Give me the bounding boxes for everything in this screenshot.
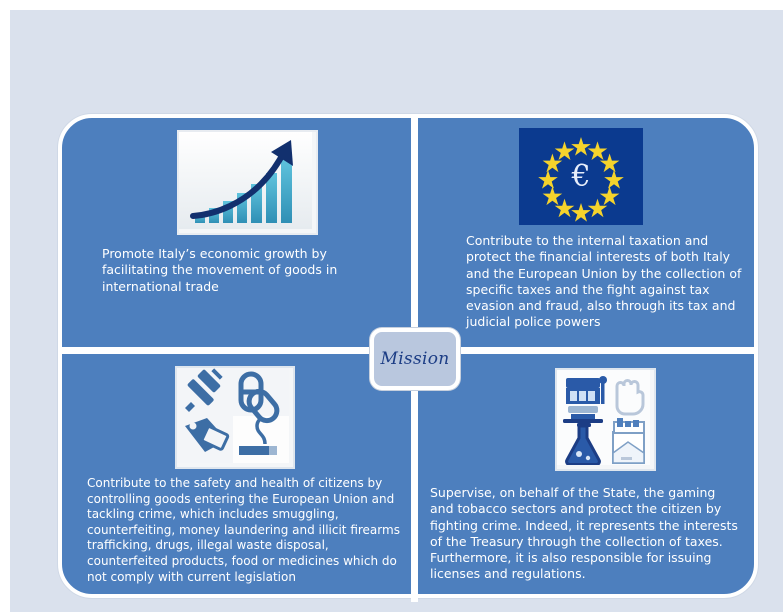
quadrant-bottom-right-text: Supervise, on behalf of the State, the g…: [430, 485, 738, 583]
quadrant-top-left[interactable]: Promote Italy’s economic growth by facil…: [62, 118, 411, 347]
quadrant-bottom-left[interactable]: Contribute to the safety and health of c…: [62, 354, 411, 602]
quadrant-top-right[interactable]: € Contribute to the internal taxation an…: [418, 118, 754, 347]
mission-center-badge[interactable]: Mission: [370, 328, 460, 390]
safety-health-contraband-icon: [175, 366, 295, 469]
page-background: Promote Italy’s economic growth by facil…: [10, 10, 783, 612]
economic-growth-chart-icon: [177, 130, 318, 235]
cigarette-pack-icon: [613, 418, 644, 463]
quadrant-bottom-right[interactable]: Supervise, on behalf of the State, the g…: [418, 354, 754, 602]
quadrant-bottom-left-text: Contribute to the safety and health of c…: [87, 476, 409, 585]
european-union-flag-euro-icon: €: [519, 128, 643, 225]
quadrant-top-right-text: Contribute to the internal taxation and …: [466, 233, 754, 331]
euro-symbol: €: [570, 159, 590, 194]
gaming-tobacco-supervision-icon: [555, 368, 656, 471]
quadrant-top-left-text: Promote Italy’s economic growth by facil…: [102, 246, 382, 295]
mission-label: Mission: [380, 349, 449, 369]
